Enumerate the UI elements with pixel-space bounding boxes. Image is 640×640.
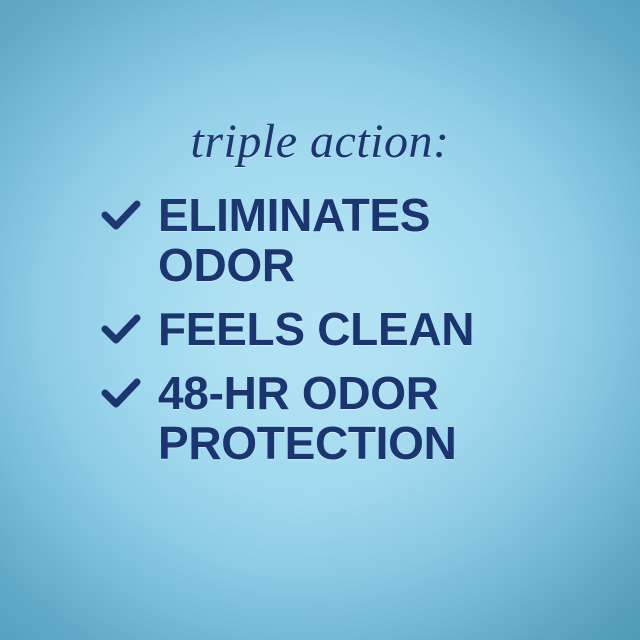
checkmark-icon (100, 368, 158, 418)
benefit-label: ELIMINATES ODOR (158, 190, 570, 290)
list-item: ELIMINATES ODOR (100, 190, 570, 290)
benefit-list: ELIMINATES ODOR FEELS CLEAN 48-HR ODOR P… (100, 190, 570, 468)
list-item: 48-HR ODOR PROTECTION (100, 368, 570, 468)
list-item: FEELS CLEAN (100, 304, 570, 354)
page-title: triple action: (0, 118, 640, 166)
benefit-label: FEELS CLEAN (158, 304, 570, 354)
checkmark-icon (100, 190, 158, 240)
benefit-label: 48-HR ODOR PROTECTION (158, 368, 570, 468)
promo-canvas: triple action: ELIMINATES ODOR FEELS CLE… (0, 0, 640, 640)
checkmark-icon (100, 304, 158, 354)
